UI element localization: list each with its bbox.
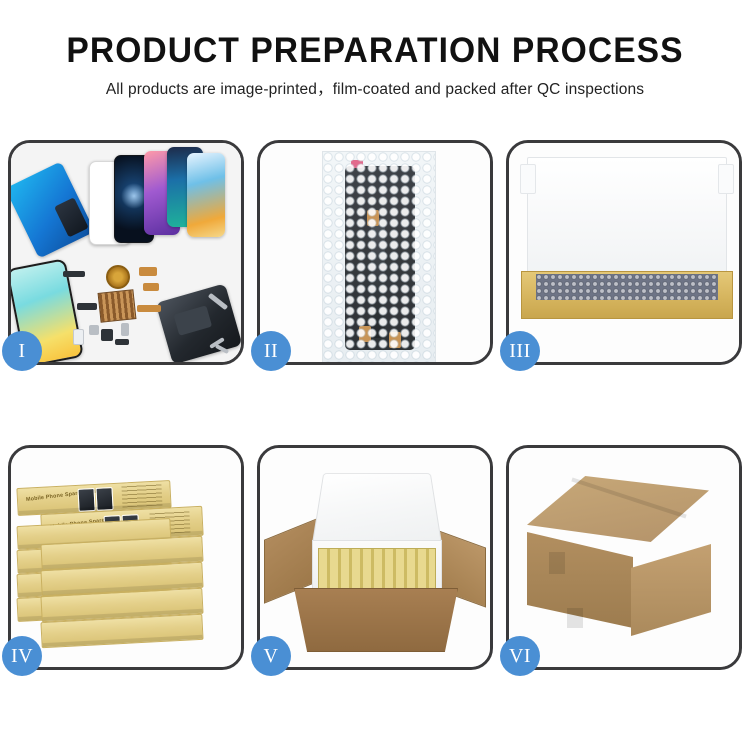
step-panel-1[interactable]: I	[8, 140, 244, 365]
badge-step-2: II	[251, 331, 291, 371]
box-stack: Mobile Phone Spare Parts Mobile Phone Sp…	[11, 448, 241, 667]
small-part	[137, 305, 161, 312]
sealed-carton	[509, 448, 739, 667]
foam-box-lid	[312, 473, 443, 546]
carton-flap-seam	[549, 552, 565, 574]
small-part	[77, 303, 97, 310]
chip-board-part	[98, 289, 137, 323]
carton-right-face	[631, 544, 711, 636]
process-step-grid: I II	[8, 140, 742, 670]
product-preparation-infographic: PRODUCT PREPARATION PROCESS All products…	[0, 0, 750, 750]
bubble-wrap-bag	[322, 151, 436, 362]
step-photo-1	[11, 143, 241, 362]
step-photo-6	[509, 448, 739, 667]
carton-top-face	[527, 476, 709, 542]
small-part	[143, 283, 159, 291]
header: PRODUCT PREPARATION PROCESS All products…	[0, 30, 750, 100]
badge-step-4: IV	[2, 636, 42, 676]
step-photo-4: Mobile Phone Spare Parts Mobile Phone Sp…	[11, 448, 241, 667]
small-part	[63, 271, 85, 277]
badge-step-6: VI	[500, 636, 540, 676]
packed-yellow-boxes	[318, 548, 436, 592]
small-part	[121, 323, 129, 336]
small-part	[101, 329, 113, 341]
small-part	[115, 339, 129, 345]
white-box-lid	[527, 157, 727, 285]
small-part	[89, 325, 99, 335]
step-panel-3[interactable]: III	[506, 140, 742, 365]
speaker-coil-part	[106, 265, 130, 289]
open-carton	[260, 448, 490, 667]
badge-step-5: V	[251, 636, 291, 676]
page-subtitle: All products are image-printed，film-coat…	[0, 80, 750, 100]
step-panel-5[interactable]: V	[257, 445, 493, 670]
carton-body	[294, 588, 458, 652]
bubble-wrapped-contents	[536, 274, 718, 300]
step-panel-4[interactable]: Mobile Phone Spare Parts Mobile Phone Sp…	[8, 445, 244, 670]
badge-step-3: III	[500, 331, 540, 371]
step-panel-2[interactable]: II	[257, 140, 493, 365]
kraft-box-tray	[521, 271, 733, 319]
carton-flap-seam	[567, 608, 583, 628]
badge-step-1: I	[2, 331, 42, 371]
phone-screen-orange	[187, 153, 225, 237]
step-panel-6[interactable]: VI	[506, 445, 742, 670]
small-part	[139, 267, 157, 276]
step-photo-5	[260, 448, 490, 667]
step-photo-3	[509, 143, 739, 362]
step-photo-2	[260, 143, 490, 362]
page-title: PRODUCT PREPARATION PROCESS	[15, 30, 735, 72]
small-part	[73, 329, 84, 345]
bubble-texture	[323, 152, 435, 362]
